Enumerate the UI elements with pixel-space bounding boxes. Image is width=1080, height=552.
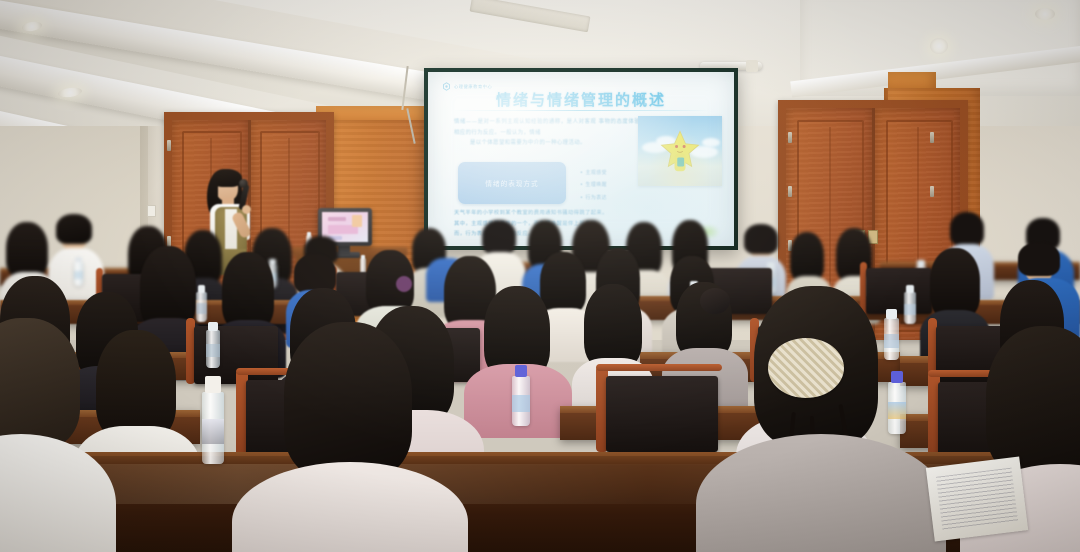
slide-title-divider <box>454 110 708 111</box>
slide-title: 情绪与情绪管理的概述 <box>428 89 734 110</box>
star-mascot-icon <box>659 130 701 174</box>
water-bottle <box>206 330 220 368</box>
water-bottle <box>904 292 916 324</box>
downlight-icon <box>1035 8 1055 20</box>
hair-scrunchie <box>768 338 844 398</box>
screen-roller-cap <box>746 60 758 72</box>
door-hinge <box>788 132 792 143</box>
door-hinge <box>167 140 171 151</box>
chair-back[interactable] <box>606 376 718 452</box>
slide-footer-line: 天气半年的小学校到某个教室的费用通知书骚动得跳了起来。 <box>454 208 704 219</box>
lecture-hall-photo: 心理健康教育中心 情绪与情绪管理的概述 情绪——是对一系列主观认知经验的通称，是… <box>0 0 1080 552</box>
presenter-hand <box>242 205 251 214</box>
door-hinge <box>930 132 934 143</box>
water-bottle <box>74 262 83 286</box>
slide-bullet-list: 主观感受 生理唤醒 行为表达 <box>580 167 607 204</box>
ceiling-vent <box>470 0 591 32</box>
slide-highlight-box: 情绪的表现方式 <box>458 162 566 204</box>
slide-bullet-item: 主观感受 <box>580 167 607 179</box>
water-bottle <box>512 376 530 426</box>
slide-paragraph-line: 是以个体愿望和需要为中介的一种心理活动。 <box>454 138 646 149</box>
handout-paper[interactable] <box>926 457 1028 542</box>
slide-paragraph-line: 情绪——是对一系列主观认知经验的通称，是人对客观 <box>454 119 596 125</box>
microphone-head-icon <box>239 179 248 188</box>
downlight-icon <box>930 38 948 54</box>
slide-paragraph: 情绪——是对一系列主观认知经验的通称，是人对客观 事物的态度体验及相应的行为反应… <box>454 117 646 149</box>
water-bottle <box>884 318 899 360</box>
slide-bullet-item: 生理唤醒 <box>580 179 607 191</box>
slide-highlight-label: 情绪的表现方式 <box>485 178 538 188</box>
slide-image-star-mascot <box>638 116 722 186</box>
slide-bullet-item: 行为表达 <box>580 192 607 204</box>
water-bottle <box>888 382 906 434</box>
chair-arm[interactable] <box>596 364 722 371</box>
door-hinge <box>930 186 934 197</box>
door-hinge <box>788 186 792 197</box>
light-switch[interactable] <box>147 205 156 217</box>
water-bottle <box>196 292 207 322</box>
chair-back[interactable] <box>866 268 932 314</box>
water-bottle <box>202 392 224 464</box>
